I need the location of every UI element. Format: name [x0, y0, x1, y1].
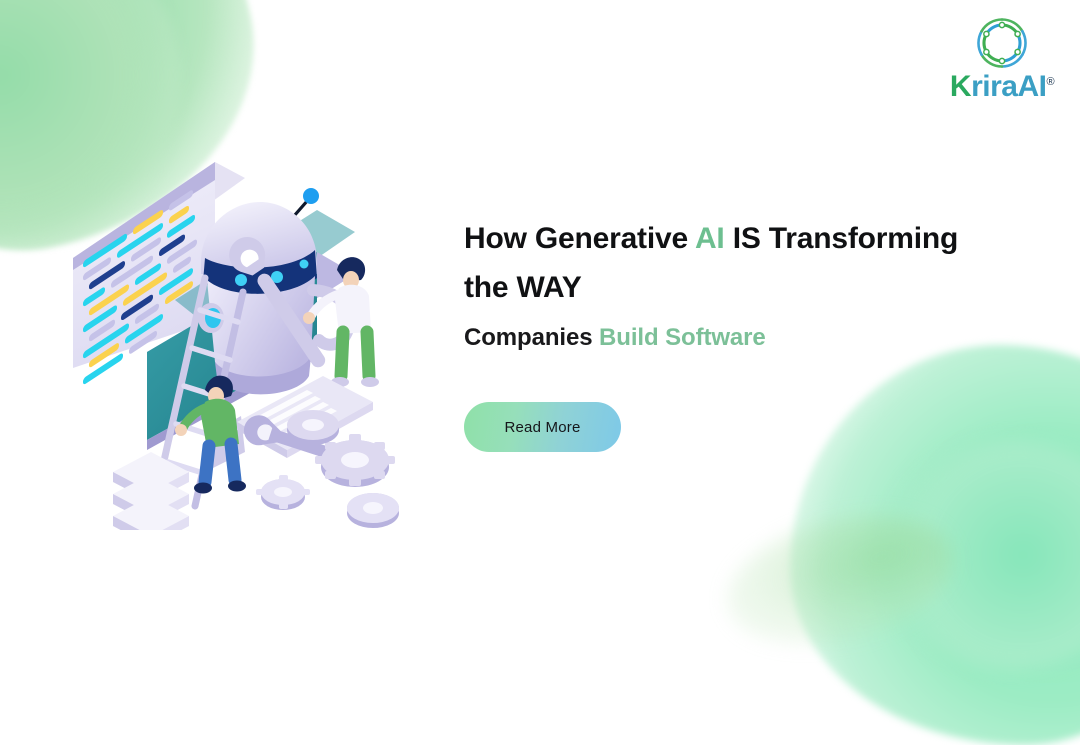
gear-small [256, 475, 310, 510]
wordmark-rest: riraAI [971, 70, 1046, 103]
engineer-pants [341, 332, 369, 376]
page-subtitle: Companies Build Software [464, 324, 1054, 352]
hero-copy: How Generative AI IS Transformingthe WAY… [464, 215, 1054, 352]
registered-trademark-icon: ® [1046, 76, 1054, 88]
subline-accent: Build Software [599, 324, 766, 351]
antenna-ball-right [303, 188, 319, 204]
hero-illustration [55, 140, 435, 530]
wordmark-k-stem: K [950, 70, 971, 103]
gear-medium [347, 493, 399, 528]
background-blob-bottom-right-tail [714, 494, 966, 666]
brand-wordmark: KriraAI® [946, 72, 1058, 102]
headline-accent-ai: AI [695, 222, 725, 255]
subline-part-1: Companies [464, 324, 599, 351]
background-blob-bottom-right-inner [880, 440, 1080, 670]
background-blob-bottom-right [790, 345, 1080, 745]
isometric-ai-scene-svg [55, 140, 435, 530]
gear-behind-screen [287, 410, 339, 445]
page-title: How Generative AI IS Transformingthe WAY [464, 215, 1054, 312]
kriraai-swirl-icon [946, 14, 1058, 72]
headline-part-1: How Generative [464, 222, 695, 255]
headline-line-2: the WAY [464, 271, 582, 304]
brand-logo[interactable]: KriraAI® [946, 14, 1058, 102]
read-more-button[interactable]: Read More [464, 402, 621, 452]
headline-part-2: IS Transforming [725, 222, 959, 255]
